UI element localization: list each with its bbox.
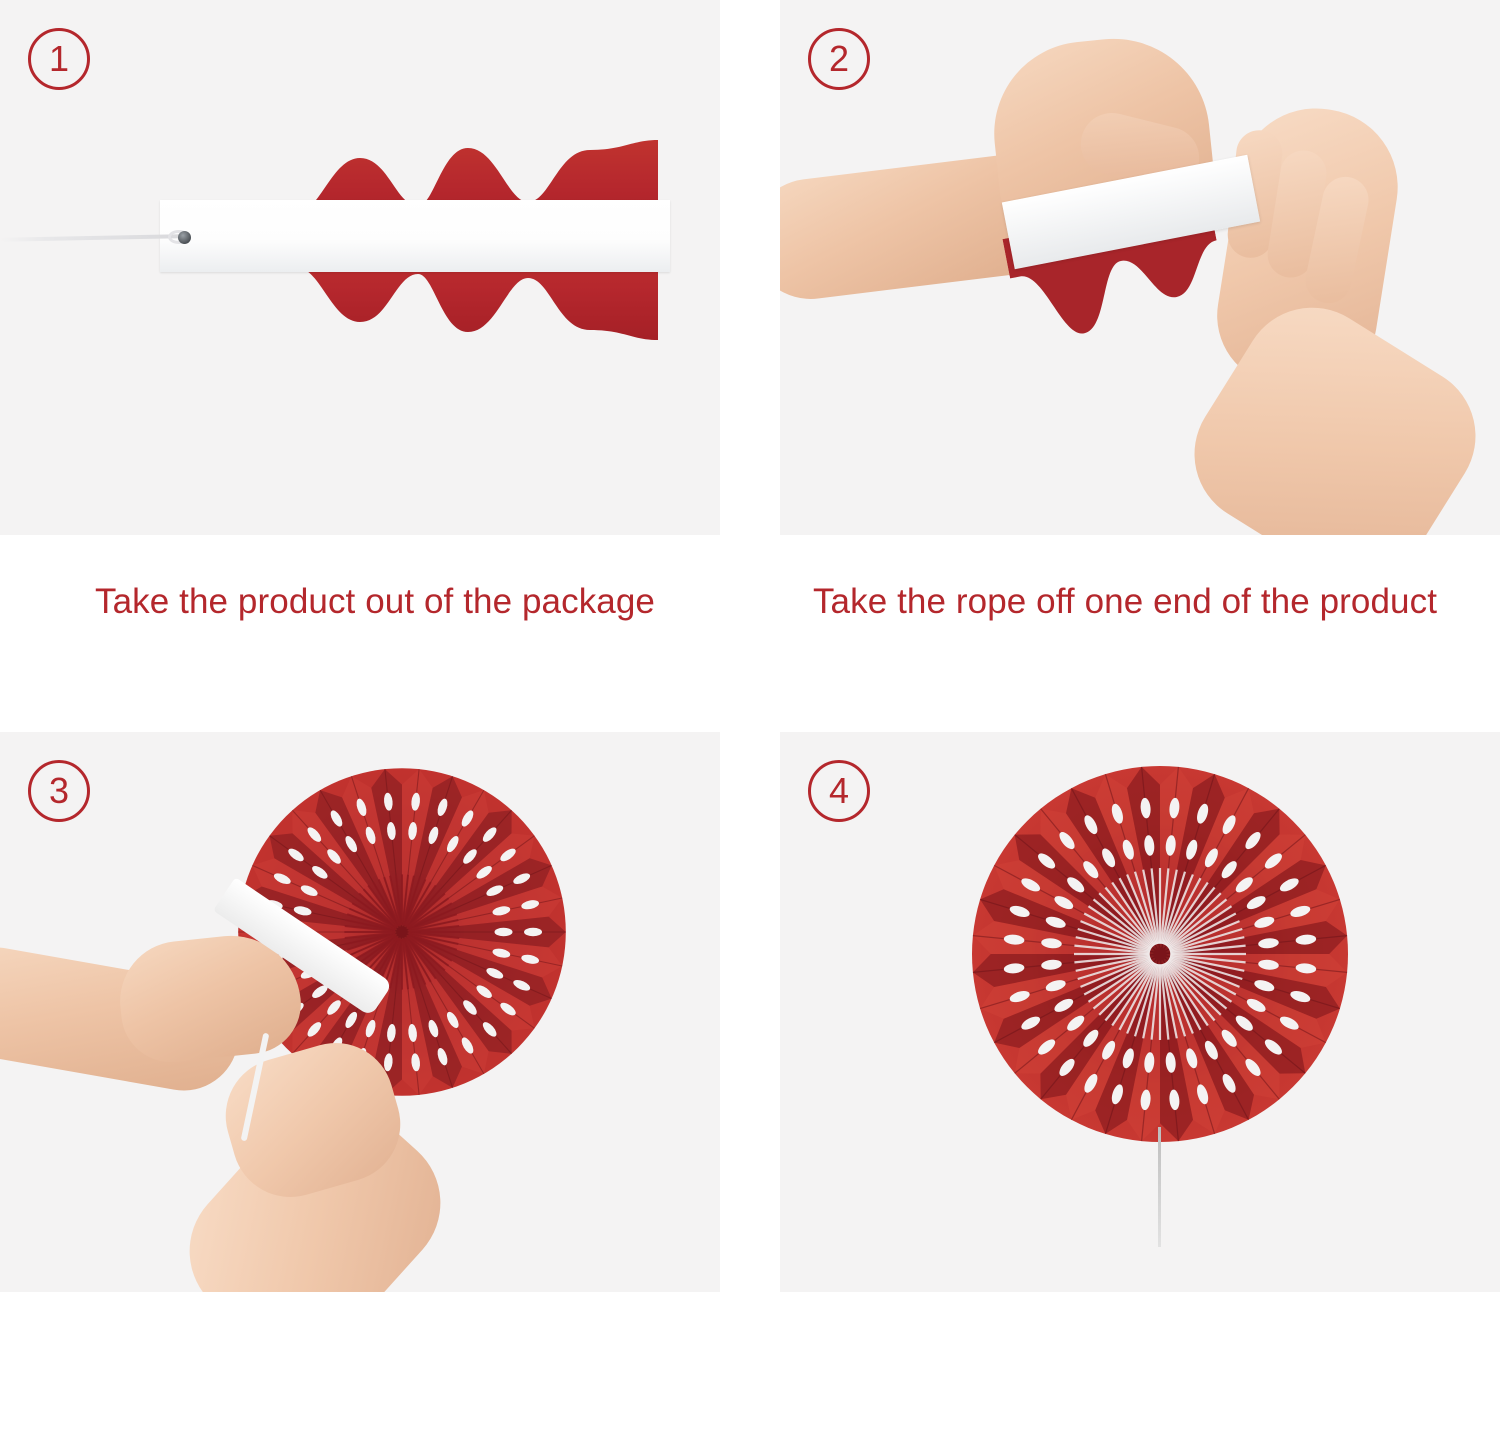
product-illustration-1 [0,0,720,535]
step-panel-1: 1 Take the product out of the package [0,0,750,716]
product-white-band [160,200,670,272]
step-badge-4: 4 [808,760,870,822]
step-number-2: 2 [829,41,849,77]
step-number-4: 4 [829,773,849,809]
step-badge-1: 1 [28,28,90,90]
step-number-3: 3 [49,773,69,809]
step-number-1: 1 [49,41,69,77]
step-panel-2: 2 Take the rope off one end of the produ… [750,0,1500,716]
step-photo-3 [0,732,720,1292]
step-badge-2: 2 [808,28,870,90]
steps-grid: 1 Take the product out of the package [0,0,1500,1433]
caption-line: Take the rope off one end of the product [750,580,1500,624]
step-photo-1 [0,0,720,535]
hanging-rope [0,234,182,241]
step-photo-2 [780,0,1500,535]
grommet-eyelet-icon [178,231,191,244]
step-badge-3: 3 [28,760,90,822]
step-caption-2: Take the rope off one end of the product [750,580,1500,624]
completed-paper-flower-fan [960,754,1360,1154]
step-caption-1: Take the product out of the package [0,580,750,624]
caption-line: Take the product out of the package [0,580,750,624]
step-panel-4: 4 And that completes a beautiful honeyco… [750,716,1500,1433]
step-panel-3: 3 Unfurl the fan, pass the rope through … [0,716,750,1433]
instruction-sheet: 1 Take the product out of the package [0,0,1500,1433]
fan-hanging-thread [1158,1127,1161,1247]
step-photo-4 [780,732,1500,1292]
